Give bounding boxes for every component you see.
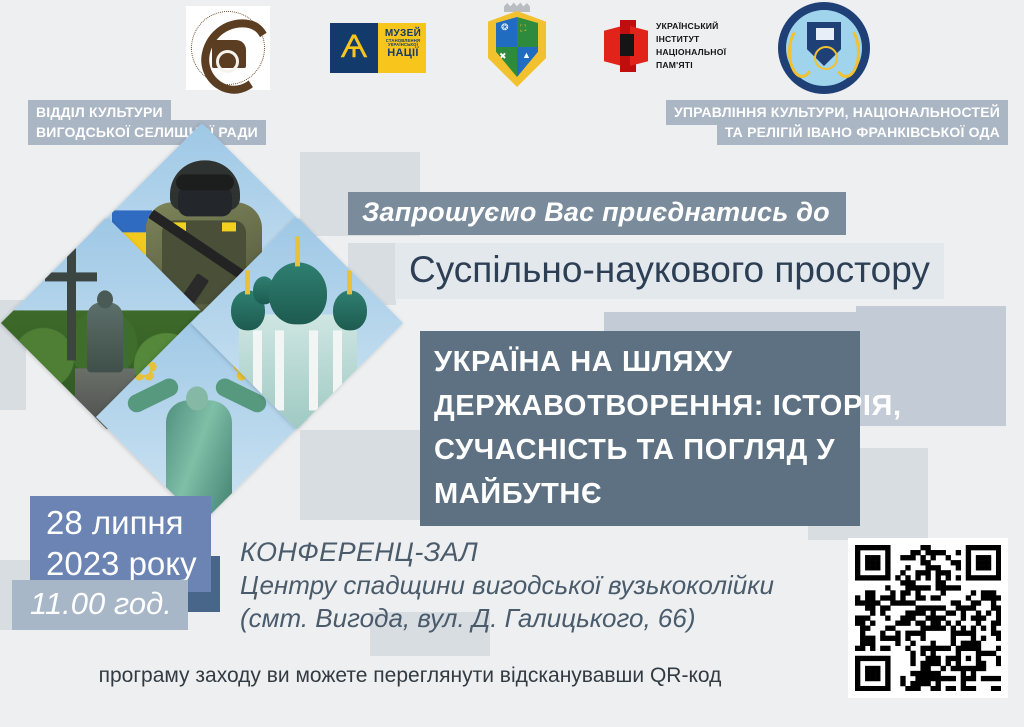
university-seal-logo [778, 2, 870, 94]
venue-line2: Центру спадщини вигодської вузькоколійки [240, 569, 840, 602]
space-name-band: Суспільно-наукового простору [395, 243, 944, 299]
organiser-right-line2: ТА РЕЛІГІЙ ІВАНО ФРАНКІВСЬКОЇ ОДА [717, 120, 1008, 145]
museum-logo-text: МУЗЕЙ СТАНОВЛЕННЯ УКРАЇНСЬКОЇ НАЦІЇ [381, 29, 425, 59]
event-title-line1: УКРАЇНА НА ШЛЯХУ [434, 340, 846, 384]
venue-line1: КОНФЕРЕНЦ-ЗАЛ [240, 536, 840, 569]
qr-code-image[interactable] [855, 545, 1001, 691]
event-title-line2: ДЕРЖАВОТВОРЕННЯ: ІСТОРІЯ, [434, 384, 846, 428]
wheel-icon [216, 50, 239, 73]
memory-text-line3: НАЦІОНАЛЬНОЇ [656, 46, 756, 59]
event-date: 28 липня 2023 року [30, 496, 211, 592]
photo-collage: ✿ ✿ [22, 152, 382, 482]
heritage-centre-logo [186, 6, 270, 90]
organiser-left-line2: ВИГОДСЬКОЇ СЕЛИЩНОЇ РАДИ [28, 120, 266, 145]
event-title-line4: МАЙБУТНЄ [434, 472, 846, 516]
memory-mark-icon [604, 20, 648, 72]
memory-text-line2: ІНСТИТУТ [656, 33, 756, 46]
poster-canvas: Ѧ МУЗЕЙ СТАНОВЛЕННЯ УКРАЇНСЬКОЇ НАЦІЇ ❂ … [0, 0, 1024, 727]
event-time: 11.00 год. [12, 580, 188, 630]
museum-blue-field: Ѧ [330, 23, 378, 73]
museum-logo: Ѧ МУЗЕЙ СТАНОВЛЕННЯ УКРАЇНСЬКОЇ НАЦІЇ [330, 23, 426, 73]
memory-logo-text: УКРАЇНСЬКИЙ ІНСТИТУТ НАЦІОНАЛЬНОЇ ПАМ'ЯТ… [656, 20, 756, 72]
crown-icon [504, 2, 530, 12]
memory-text-line4: ПАМ'ЯТІ [656, 59, 756, 72]
event-title: УКРАЇНА НА ШЛЯХУ ДЕРЖАВОТВОРЕННЯ: ІСТОРІ… [420, 331, 860, 526]
institute-of-national-memory-logo: УКРАЇНСЬКИЙ ІНСТИТУТ НАЦІОНАЛЬНОЇ ПАМ'ЯТ… [604, 18, 754, 78]
trident-icon: Ѧ [340, 32, 368, 64]
qr-code[interactable] [848, 538, 1008, 698]
vyhoda-coat-of-arms: ❂ ⛶ ✖ ▲ [484, 2, 550, 92]
memory-text-line1: УКРАЇНСЬКИЙ [656, 20, 756, 33]
venue-line3: (смт. Вигода, вул. Д. Галицького, 66) [240, 602, 840, 635]
qr-instruction-note: програму заходу ви можете переглянути ві… [0, 664, 820, 688]
museum-text-line3: НАЦІЇ [381, 48, 425, 59]
event-venue: КОНФЕРЕНЦ-ЗАЛ Центру спадщини вигодської… [240, 536, 840, 635]
edelweiss-icon: ❂ [501, 23, 509, 32]
book-icon [816, 28, 834, 40]
event-date-line2: 2023 року [46, 543, 197, 584]
event-title-line3: СУЧАСНІСТЬ ТА ПОГЛЯД У [434, 428, 846, 472]
logo-row: Ѧ МУЗЕЙ СТАНОВЛЕННЯ УКРАЇНСЬКОЇ НАЦІЇ ❂ … [0, 0, 1024, 96]
event-date-line1: 28 липня [46, 502, 197, 543]
seal-roundel-icon [814, 46, 838, 70]
fir-tree-icon: ▲ [522, 51, 531, 60]
invitation-band: Запрошуємо Вас приєднатись до [348, 192, 846, 235]
train-icon: ⛶ [520, 24, 526, 33]
